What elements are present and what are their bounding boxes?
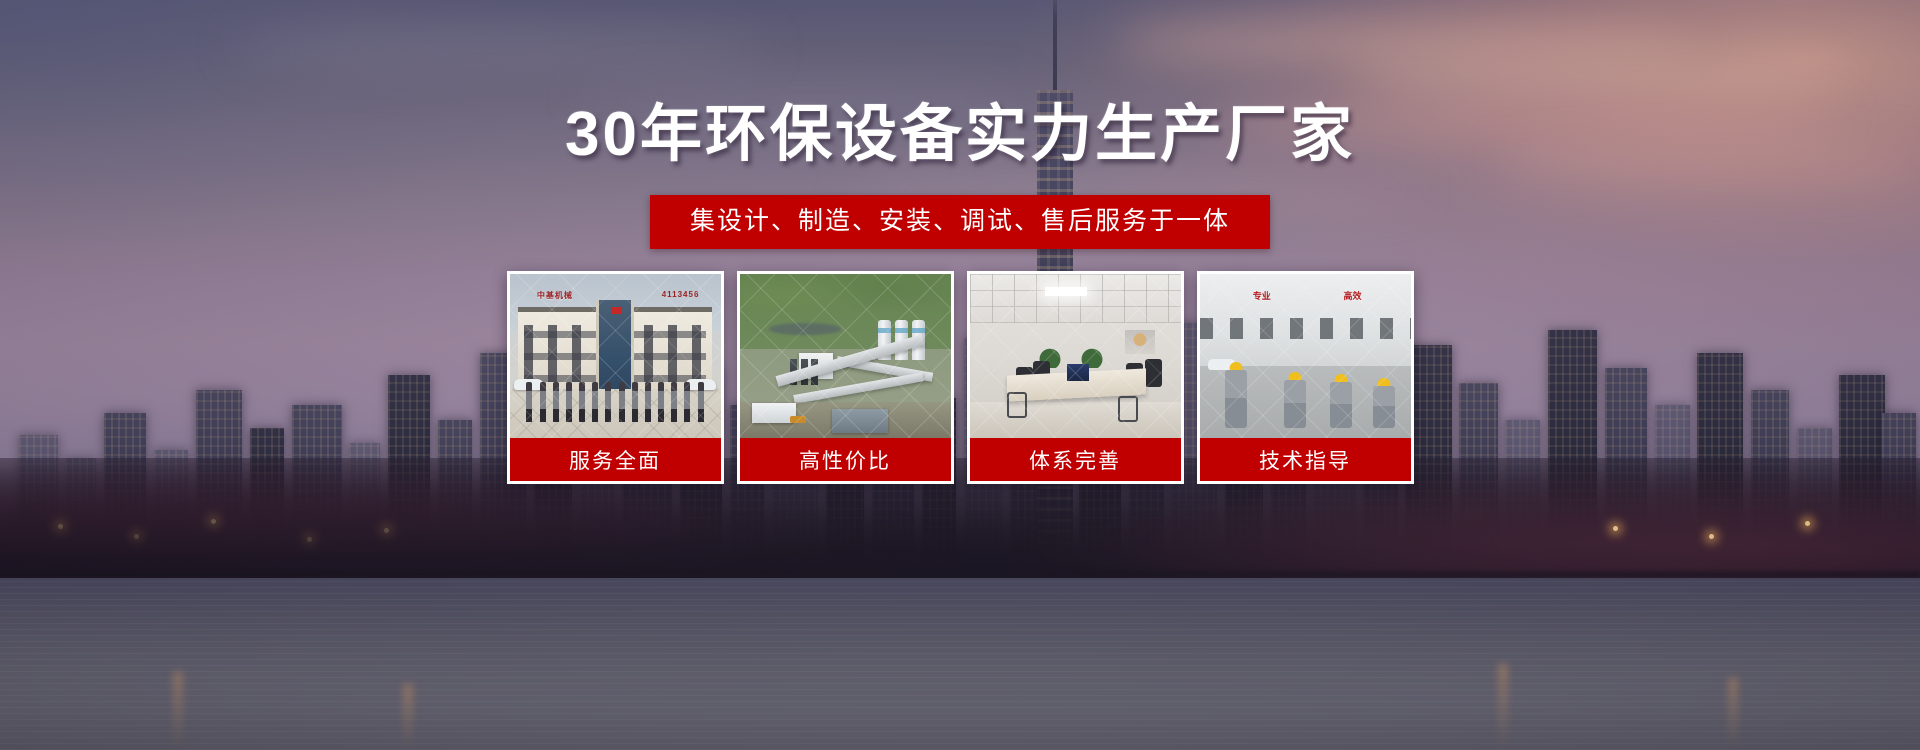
feature-card[interactable]: 专业 高效 技术指导	[1197, 271, 1414, 484]
feature-card-list: 中基机械 4113456 服务全面	[507, 271, 1414, 484]
banner-subtitle-badge: 集设计、制造、安装、调试、售后服务于一体	[650, 195, 1270, 249]
hero-banner: 30年环保设备实力生产厂家 集设计、制造、安装、调试、售后服务于一体 中基机械 …	[0, 0, 1920, 750]
feature-card[interactable]: 高性价比	[737, 271, 954, 484]
feature-card-label: 技术指导	[1200, 438, 1411, 481]
factory-slogan-text: 高效	[1343, 289, 1361, 302]
factory-workers-hardhats-photo: 专业 高效	[1200, 274, 1411, 438]
feature-card-label: 高性价比	[740, 438, 951, 481]
factory-slogan-text: 专业	[1253, 289, 1271, 302]
factory-wall-slogans: 专业 高效	[1216, 289, 1397, 302]
company-office-building-staff-photo: 中基机械 4113456	[510, 274, 721, 438]
aerial-industrial-plant-photo	[740, 274, 951, 438]
feature-card[interactable]: 体系完善	[967, 271, 1184, 484]
building-phone-text: 4113456	[662, 290, 700, 299]
office-interior-meeting-photo	[970, 274, 1181, 438]
building-sign-text: 中基机械	[537, 290, 573, 301]
feature-card-label: 体系完善	[970, 438, 1181, 481]
feature-card[interactable]: 中基机械 4113456 服务全面	[507, 271, 724, 484]
banner-headline: 30年环保设备实力生产厂家	[565, 104, 1355, 166]
feature-card-label: 服务全面	[510, 438, 721, 481]
